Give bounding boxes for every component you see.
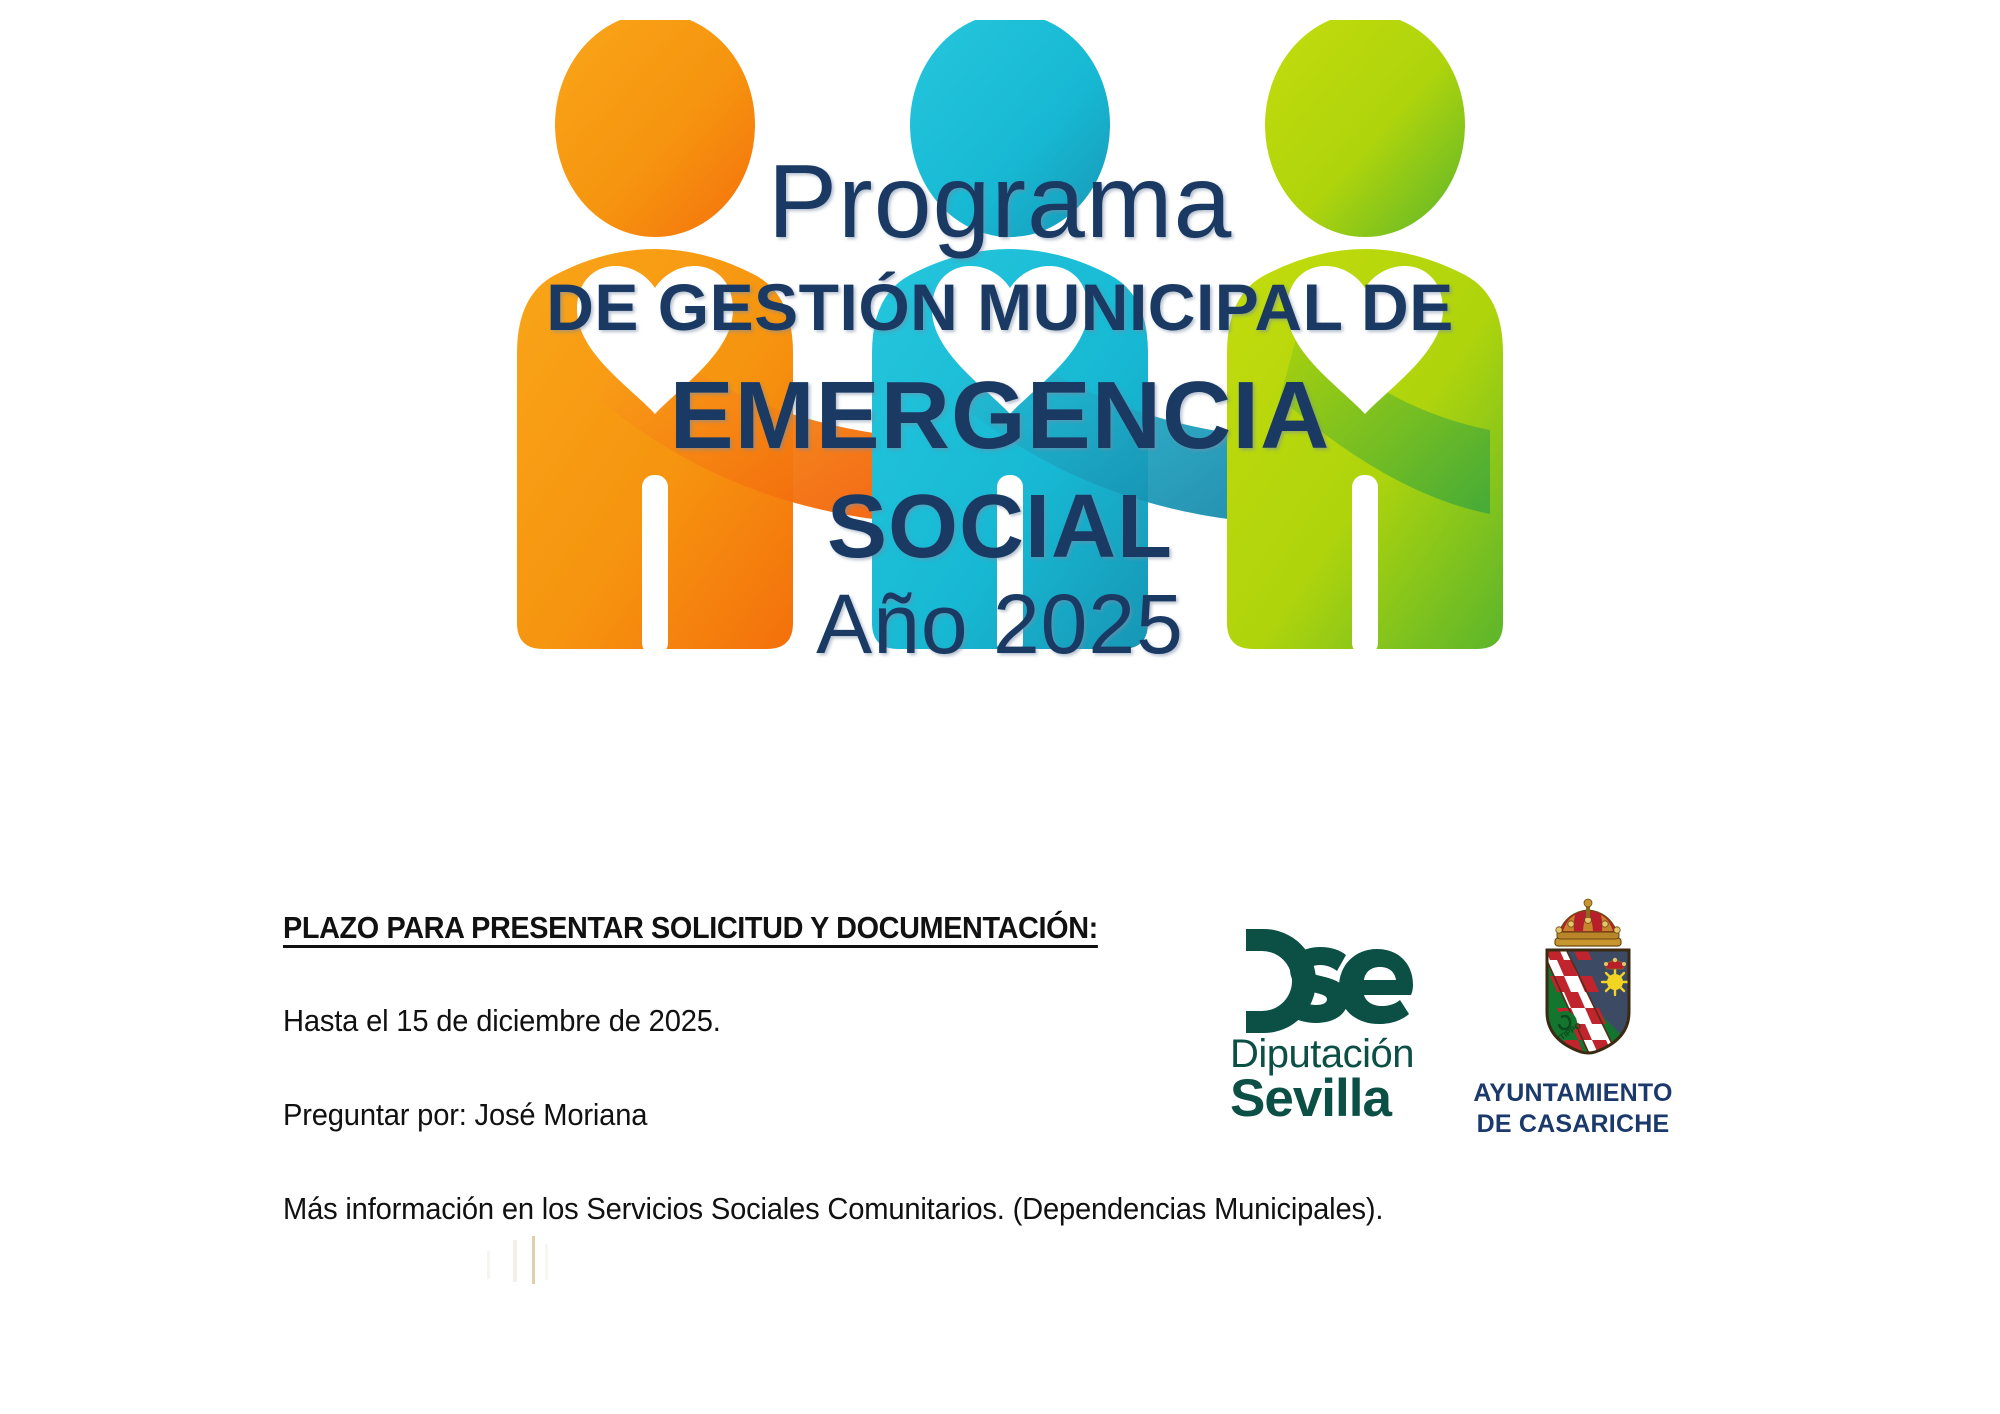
sevilla-word: Sevilla (1230, 1073, 1420, 1125)
ayuntamiento-line2: DE CASARICHE (1448, 1109, 1698, 1140)
figure-left (517, 20, 880, 655)
casariche-coat-of-arms-icon: VENTIPPO (1533, 898, 1643, 1073)
three-people-illustration (480, 20, 1540, 660)
scan-artifact-3 (532, 1236, 535, 1284)
figure-center (872, 20, 1235, 655)
diputacion-sevilla-logo: Diputación Sevilla (1228, 925, 1418, 1135)
scan-artifact-2 (513, 1240, 517, 1282)
info-block: PLAZO PARA PRESENTAR SOLICITUD Y DOCUMEN… (0, 890, 2000, 1414)
info-line-deadline: Hasta el 15 de diciembre de 2025. (283, 1003, 1326, 1039)
dse-monogram-icon (1228, 925, 1418, 1037)
info-text-group: PLAZO PARA PRESENTAR SOLICITUD Y DOCUMEN… (283, 910, 1393, 1227)
ayuntamiento-line1: AYUNTAMIENTO (1448, 1078, 1698, 1109)
people-svg (480, 20, 1540, 660)
poster-graphic: Programa DE GESTIÓN MUNICIPAL DE EMERGEN… (0, 0, 2000, 890)
coat-of-arms-svg: VENTIPPO (1533, 898, 1643, 1073)
ayuntamiento-label: AYUNTAMIENTO DE CASARICHE (1448, 1078, 1698, 1139)
info-heading: PLAZO PARA PRESENTAR SOLICITUD Y DOCUMEN… (283, 910, 1315, 946)
scan-artifact-1 (487, 1251, 490, 1279)
sun-charge (1602, 969, 1628, 995)
info-line-contact: Preguntar por: José Moriana (283, 1097, 1326, 1133)
scan-artifact-4 (545, 1244, 548, 1280)
ayuntamiento-casariche-logo: VENTIPPO AYUNTAMIENTO DE CASARICHE (1448, 898, 1698, 1148)
crown (1555, 899, 1621, 946)
figure-right (1227, 20, 1503, 655)
shield: VENTIPPO (1533, 943, 1643, 1058)
info-line-moreinfo: Más información en los Servicios Sociale… (283, 1191, 1326, 1227)
